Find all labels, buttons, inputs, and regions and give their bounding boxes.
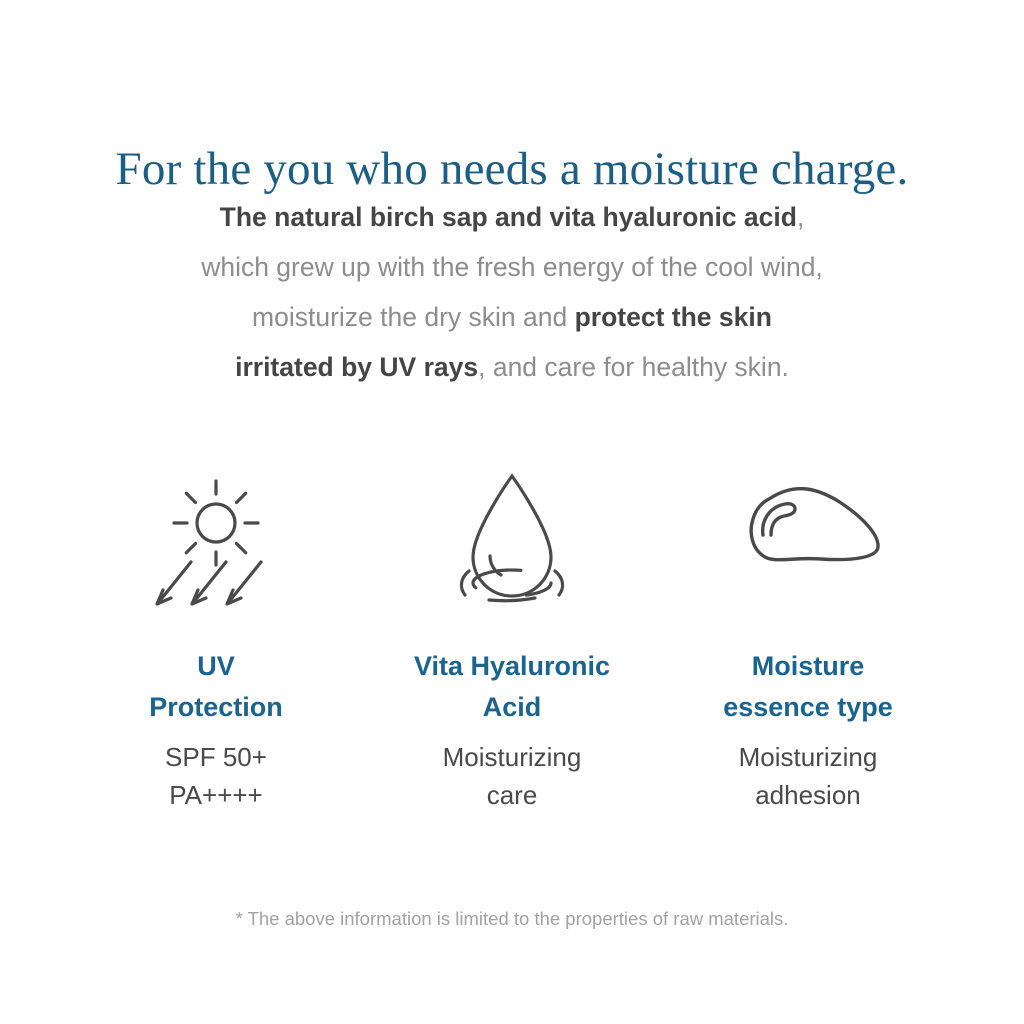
feature-desc-line-1: Moisturizing: [443, 738, 582, 776]
description-line-4-bold: irritated by UV rays: [235, 352, 478, 382]
description-paragraph: The natural birch sap and vita hyaluroni…: [0, 192, 1024, 392]
description-line-1-tail: ,: [797, 202, 804, 232]
product-feature-infographic: For the you who needs a moisture charge.…: [0, 0, 1024, 1024]
essence-dollop-icon: [723, 452, 893, 622]
description-line-4-normal: , and care for healthy skin.: [478, 352, 789, 382]
description-line-3: moisturize the dry skin and protect the …: [0, 292, 1024, 342]
feature-title-uv-protection: UV Protection: [149, 646, 283, 728]
feature-desc-line-2: adhesion: [739, 776, 878, 814]
feature-desc-vita-hyaluronic-acid: Moisturizing care: [443, 738, 582, 814]
sun-uv-rays-icon: [141, 452, 291, 622]
feature-title-line-1: Moisture: [752, 651, 865, 681]
feature-desc-moisture-essence-type: Moisturizing adhesion: [739, 738, 878, 814]
feature-item-uv-protection: UV Protection SPF 50+ PA++++: [68, 452, 364, 814]
water-droplet-ripple-icon: [437, 452, 587, 622]
feature-desc-line-1: Moisturizing: [739, 738, 878, 776]
description-line-3-normal: moisturize the dry skin and: [252, 302, 575, 332]
feature-title-line-2: essence type: [723, 692, 893, 722]
feature-desc-line-2: PA++++: [165, 776, 267, 814]
feature-desc-line-1: SPF 50+: [165, 738, 267, 776]
feature-title-line-1: UV: [197, 651, 235, 681]
page-title: For the you who needs a moisture charge.: [0, 139, 1024, 199]
description-line-1: The natural birch sap and vita hyaluroni…: [0, 192, 1024, 242]
feature-item-vita-hyaluronic-acid: Vita Hyaluronic Acid Moisturizing care: [364, 452, 660, 814]
feature-title-line-2: Acid: [483, 692, 542, 722]
feature-title-line-2: Protection: [149, 692, 283, 722]
feature-list: UV Protection SPF 50+ PA++++: [0, 452, 1024, 814]
feature-desc-uv-protection: SPF 50+ PA++++: [165, 738, 267, 814]
feature-title-line-1: Vita Hyaluronic: [414, 651, 610, 681]
feature-desc-line-2: care: [443, 776, 582, 814]
description-line-2: which grew up with the fresh energy of t…: [0, 242, 1024, 292]
footnote-disclaimer: * The above information is limited to th…: [0, 906, 1024, 932]
description-line-4: irritated by UV rays, and care for healt…: [0, 342, 1024, 392]
feature-title-vita-hyaluronic-acid: Vita Hyaluronic Acid: [414, 646, 610, 728]
description-line-1-bold: The natural birch sap and vita hyaluroni…: [220, 202, 797, 232]
description-line-3-bold: protect the skin: [575, 302, 772, 332]
feature-title-moisture-essence-type: Moisture essence type: [723, 646, 893, 728]
feature-item-moisture-essence-type: Moisture essence type Moisturizing adhes…: [660, 452, 956, 814]
